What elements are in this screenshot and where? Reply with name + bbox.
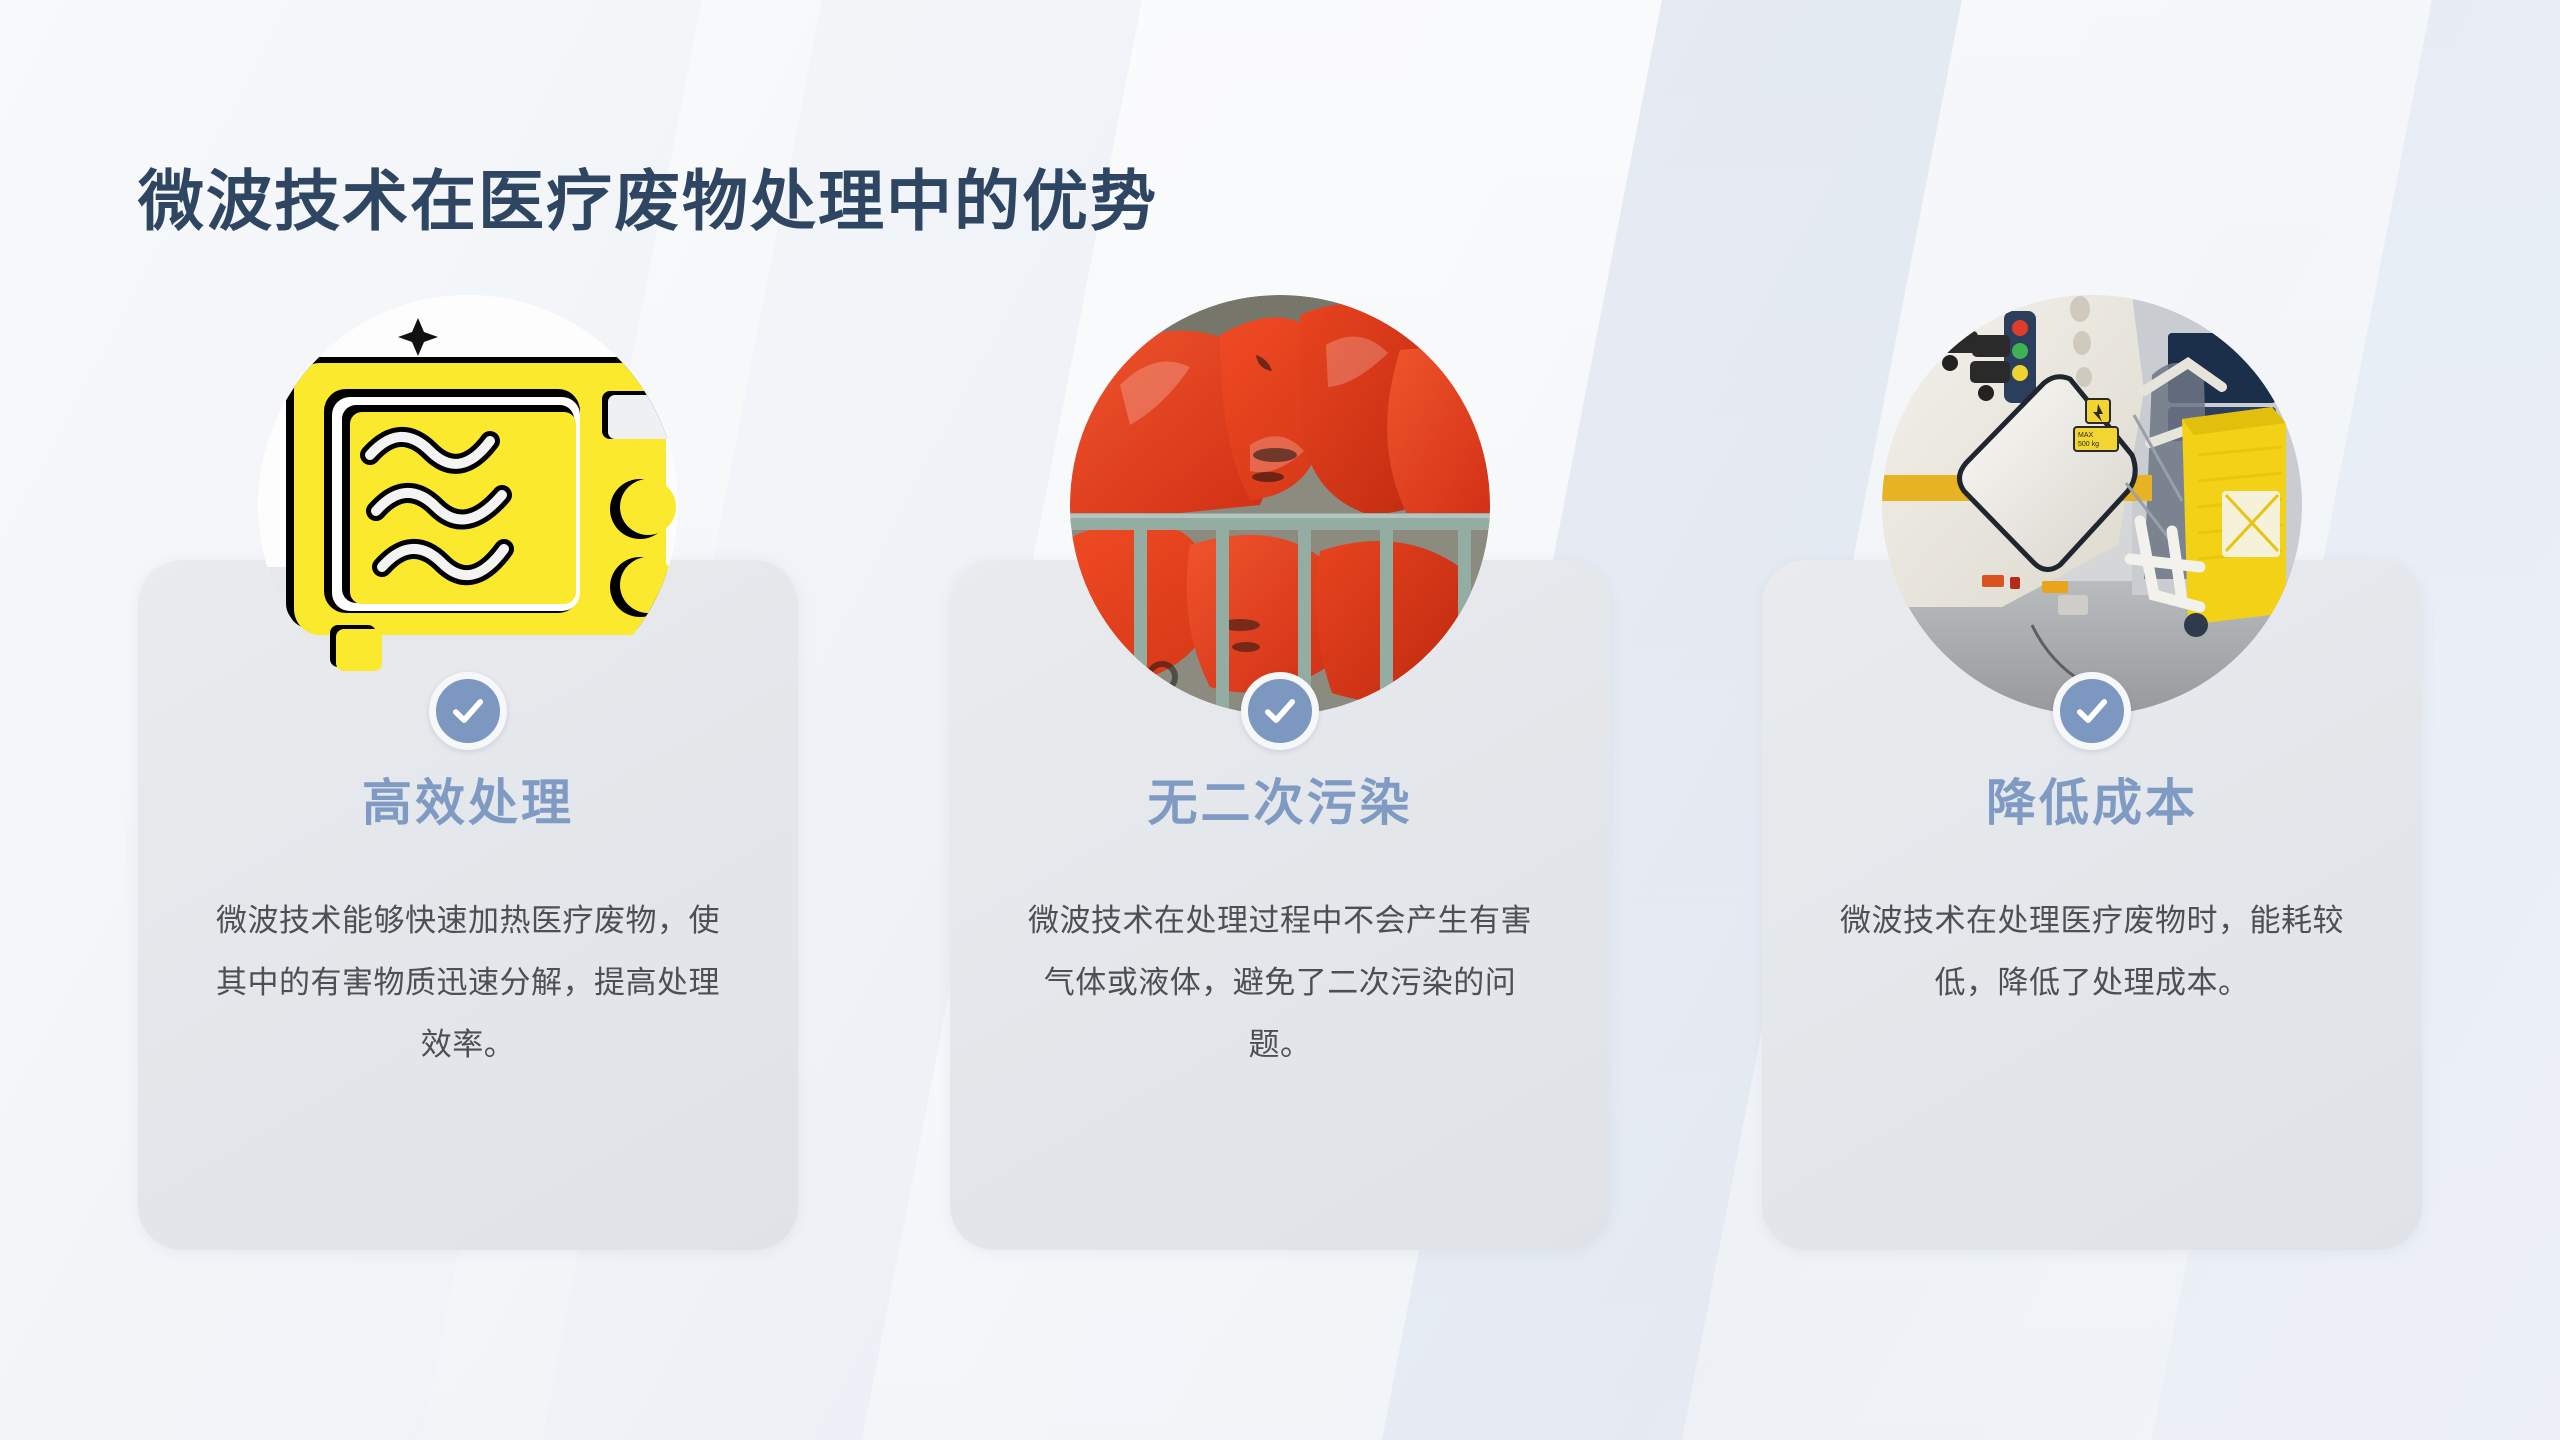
card-title: 降低成本 (1762, 778, 2422, 828)
waste-treatment-machine-photo: MAX 500 kg (1882, 295, 2302, 715)
microwave-oven-icon (258, 295, 678, 715)
card-efficient-processing[interactable]: 高效处理 微波技术能够快速加热医疗废物，使其中的有害物质迅速分解，提高处理效率。 (138, 560, 798, 1250)
card-body: 微波技术在处理过程中不会产生有害气体或液体，避免了二次污染的问题。 (1028, 890, 1532, 1076)
red-medical-waste-bags-photo (1070, 295, 1490, 715)
check-icon (429, 672, 507, 750)
card-body: 微波技术能够快速加热医疗废物，使其中的有害物质迅速分解，提高处理效率。 (216, 890, 720, 1076)
page-title: 微波技术在医疗废物处理中的优势 (138, 162, 1158, 241)
card-lower-cost[interactable]: MAX 500 kg (1762, 560, 2422, 1250)
card-body: 微波技术在处理医疗废物时，能耗较低，降低了处理成本。 (1840, 890, 2344, 1014)
slide-root: 微波技术在医疗废物处理中的优势 (0, 0, 2560, 1440)
cards-row: 高效处理 微波技术能够快速加热医疗废物，使其中的有害物质迅速分解，提高处理效率。 (0, 560, 2560, 1250)
card-no-secondary-pollution[interactable]: 无二次污染 微波技术在处理过程中不会产生有害气体或液体，避免了二次污染的问题。 (950, 560, 1610, 1250)
check-icon (2053, 672, 2131, 750)
card-title: 高效处理 (138, 778, 798, 828)
card-title: 无二次污染 (950, 778, 1610, 828)
check-icon (1241, 672, 1319, 750)
svg-text:MAX: MAX (2078, 432, 2094, 439)
svg-text:500 kg: 500 kg (2078, 441, 2099, 448)
